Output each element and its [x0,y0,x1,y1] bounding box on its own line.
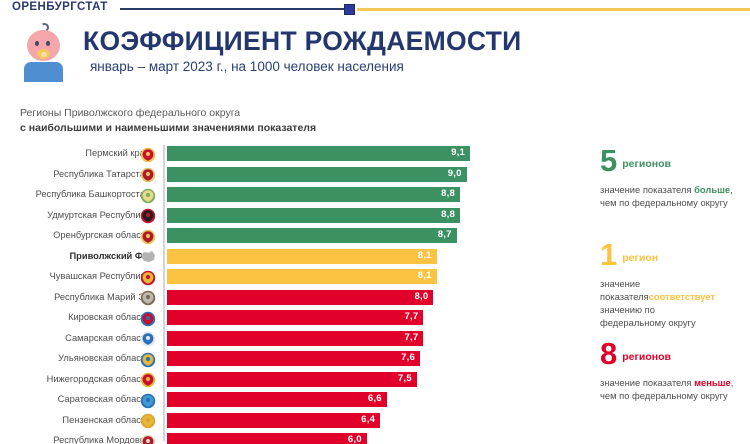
stat-block: 5регионовзначение показателя больше,чем … [600,145,750,209]
region-emblem-icon [140,393,156,409]
stat-unit: регионов [622,351,671,363]
chart-row: Республика Башкортостан8,8 [0,186,560,207]
region-emblem-icon [140,290,156,306]
region-emblem-icon [140,311,156,327]
chart-row-label: Удмуртская Республика [47,210,150,220]
stat-desc-line2: чем по федеральному округу [600,197,728,208]
infographic-page: ОРЕНБУРГСТАТ КОЭФФИЦИЕНТ РОЖДАЕМОСТИ янв… [0,0,750,444]
chart-bar: 8,8 [167,187,460,202]
chart-bar: 6,6 [167,392,387,407]
chart-bar: 6,4 [167,413,380,428]
chart-row: Нижегородская область7,5 [0,371,560,392]
chart-bar-value: 8,8 [441,188,455,199]
chart-row: Удмуртская Республика8,8 [0,207,560,228]
region-emblem-icon [140,270,156,286]
stat-block: 8регионовзначение показателя меньше,чем … [600,338,750,402]
chart-bar: 8,8 [167,208,460,223]
chart-bar-value: 6,0 [348,434,362,444]
stat-desc-suffix: , [731,377,734,388]
chart-row: Ульяновская область7,6 [0,350,560,371]
chart-bar: 7,7 [167,331,423,346]
stat-count: 1 [600,239,617,270]
stat-unit: регионов [622,158,671,170]
chart-bar-value: 8,8 [441,209,455,220]
region-emblem-icon [140,372,156,388]
region-emblem-icon [140,167,156,183]
chart-bar-value: 8,1 [418,250,432,261]
chart-row: Приволжский ФО8,1 [0,248,560,269]
region-emblem-icon [140,229,156,245]
chart-bar-value: 9,0 [448,168,462,179]
chart-row: Республика Марий Эл8,0 [0,289,560,310]
chart-bar-value: 7,6 [401,352,415,363]
stat-desc-prefix: значение показателя [600,184,694,195]
chart-bar-value: 8,7 [438,229,452,240]
stat-desc-prefix: значение показателя [600,377,694,388]
chart-bar-value: 6,4 [361,414,375,425]
chart-bar-value: 7,7 [404,311,418,322]
stat-unit: регион [622,252,658,264]
chart-caption-line2: с наибольшими и наименьшими значениями п… [20,122,316,134]
chart-bar: 9,0 [167,167,467,182]
chart-row: Саратовская область6,6 [0,391,560,412]
chart-bar-value: 7,7 [404,332,418,343]
chart-row-label: Нижегородская область [47,374,150,384]
chart-row-label: Кировская область [68,312,150,322]
top-bar: ОРЕНБУРГСТАТ [0,0,750,18]
chart-row-label: Саратовская область [58,394,150,404]
stat-desc-keyword: меньше [694,377,731,388]
chart-bar: 7,7 [167,310,423,325]
chart-row: Оренбургская область8,7 [0,227,560,248]
chart-row-label: Республика Башкортостан [36,189,150,199]
chart-row-label: Чувашская Республика [50,271,150,281]
stat-desc-keyword: соответствует [649,291,715,302]
chart-row-label: Пензенская область [62,415,150,425]
stat-desc-line2: чем по федеральному округу [600,390,728,401]
baby-eye-left [35,41,39,46]
chart-bar: 8,0 [167,290,433,305]
header-square-marker [344,4,355,15]
chart-bar: 6,0 [167,433,367,444]
page-subtitle: январь – март 2023 г., на 1000 человек н… [90,59,404,74]
chart-bar-value: 8,1 [418,270,432,281]
header-rule-dark [120,8,344,10]
brand-label: ОРЕНБУРГСТАТ [12,1,108,13]
region-emblem-icon [140,188,156,204]
chart-bar: 7,6 [167,351,420,366]
region-emblem-icon [140,331,156,347]
stat-description: значение показателясоответствует значени… [600,277,750,329]
chart-bar-value: 9,1 [451,147,465,158]
chart-row: Республика Мордовия6,0 [0,432,560,444]
stat-description: значение показателя больше,чем по федера… [600,183,750,209]
chart-bar-value: 7,5 [398,373,412,384]
chart-row: Чувашская Республика8,1 [0,268,560,289]
chart-row-label: Ульяновская область [58,353,150,363]
chart-row-label: Приволжский ФО [70,251,151,261]
stat-description: значение показателя меньше,чем по федера… [600,376,750,402]
page-title: КОЭФФИЦИЕНТ РОЖДАЕМОСТИ [83,26,522,57]
stat-desc-line2: федеральному округу [600,317,696,328]
chart-bar: 8,1 [167,249,437,264]
chart-row-label: Республика Мордовия [53,435,150,444]
region-emblem-icon [140,413,156,429]
baby-body [24,62,63,82]
chart-row: Пензенская область6,4 [0,412,560,433]
chart-row: Республика Татарстан9,0 [0,166,560,187]
chart-row: Кировская область7,7 [0,309,560,330]
stat-desc-keyword: больше [694,184,730,195]
chart-bar-value: 6,6 [368,393,382,404]
chart-bar: 7,5 [167,372,417,387]
chart-caption-line1: Регионы Приволжского федерального округа [20,106,316,121]
district-map-icon [140,249,156,265]
stat-desc-suffix: , [730,184,733,195]
stat-block: 1регионзначение показателясоответствует … [600,239,750,329]
chart-row-label: Республика Марий Эл [54,292,150,302]
chart-caption: Регионы Приволжского федерального округа… [20,106,316,135]
region-emblem-icon [140,352,156,368]
chart-row: Пермский край9,1 [0,145,560,166]
baby-pacifier-inner [41,52,47,57]
stat-count: 8 [600,338,617,369]
baby-eye-right [46,41,50,46]
birth-rate-bar-chart: Пермский край9,1Республика Татарстан9,0Р… [0,145,560,444]
stat-desc-suffix: значению по [600,304,655,315]
chart-bar-value: 8,0 [414,291,428,302]
chart-row-label: Оренбургская область [53,230,150,240]
chart-row-label: Самарская область [65,333,150,343]
chart-row-label: Республика Татарстан [53,169,150,179]
chart-bar: 8,1 [167,269,437,284]
chart-row: Самарская область7,7 [0,330,560,351]
region-emblem-icon [140,208,156,224]
region-emblem-icon [140,147,156,163]
stat-count: 5 [600,145,617,176]
baby-icon [16,22,72,82]
chart-bar: 9,1 [167,146,470,161]
region-emblem-icon [140,434,156,444]
stat-desc-prefix: значение показателя [600,278,649,302]
chart-bar: 8,7 [167,228,457,243]
header-rule-gold [357,8,750,11]
